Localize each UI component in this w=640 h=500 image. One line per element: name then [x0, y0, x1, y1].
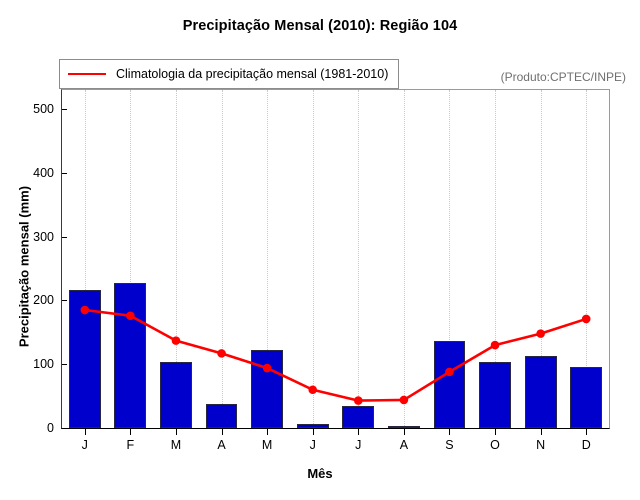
- x-tick-mark: [130, 429, 131, 435]
- data-point-marker: [491, 341, 500, 350]
- x-tick-label: A: [384, 438, 424, 452]
- y-tick-mark: [62, 300, 67, 301]
- x-tick-label: D: [566, 438, 606, 452]
- chart-figure: Precipitação Mensal (2010): Região 104 (…: [0, 0, 640, 500]
- x-tick-mark: [449, 429, 450, 435]
- x-tick-mark: [586, 429, 587, 435]
- x-tick-mark: [176, 429, 177, 435]
- data-point-marker: [126, 311, 135, 320]
- data-point-marker: [263, 364, 272, 373]
- legend-line-swatch: [68, 73, 106, 75]
- x-tick-label: O: [475, 438, 515, 452]
- x-tick-label: J: [293, 438, 333, 452]
- x-axis-label: Mês: [0, 466, 640, 481]
- x-tick-mark: [541, 429, 542, 435]
- data-point-marker: [400, 396, 409, 405]
- plot-area: [62, 90, 609, 428]
- x-tick-mark: [495, 429, 496, 435]
- data-point-marker: [536, 329, 545, 338]
- y-tick-mark: [62, 173, 67, 174]
- y-tick-mark: [62, 364, 67, 365]
- y-tick-mark: [62, 109, 67, 110]
- data-point-marker: [582, 315, 591, 324]
- data-point-marker: [354, 396, 363, 405]
- legend: Climatologia da precipitação mensal (198…: [59, 59, 399, 89]
- producer-annotation: (Produto:CPTEC/INPE): [501, 70, 626, 84]
- x-tick-label: J: [338, 438, 378, 452]
- x-tick-label: S: [429, 438, 469, 452]
- data-point-marker: [445, 368, 454, 377]
- x-tick-mark: [85, 429, 86, 435]
- y-tick-mark: [62, 237, 67, 238]
- x-tick-label: F: [110, 438, 150, 452]
- y-tick-label: 0: [10, 422, 54, 434]
- y-axis-label: Precipitação mensal (mm): [17, 132, 32, 402]
- x-tick-mark: [267, 429, 268, 435]
- chart-title: Precipitação Mensal (2010): Região 104: [0, 18, 640, 34]
- x-tick-mark: [404, 429, 405, 435]
- x-tick-label: N: [521, 438, 561, 452]
- data-point-marker: [217, 349, 226, 358]
- data-point-marker: [308, 385, 317, 394]
- data-point-marker: [80, 306, 89, 315]
- x-tick-mark: [358, 429, 359, 435]
- climatology-line-series: [62, 90, 609, 428]
- legend-label: Climatologia da precipitação mensal (198…: [116, 67, 388, 81]
- x-tick-label: M: [156, 438, 196, 452]
- x-tick-mark: [313, 429, 314, 435]
- x-tick-label: A: [202, 438, 242, 452]
- x-tick-label: M: [247, 438, 287, 452]
- x-tick-mark: [222, 429, 223, 435]
- x-tick-label: J: [65, 438, 105, 452]
- data-point-marker: [172, 336, 181, 345]
- y-tick-label: 500: [10, 103, 54, 115]
- y-tick-mark: [62, 428, 67, 429]
